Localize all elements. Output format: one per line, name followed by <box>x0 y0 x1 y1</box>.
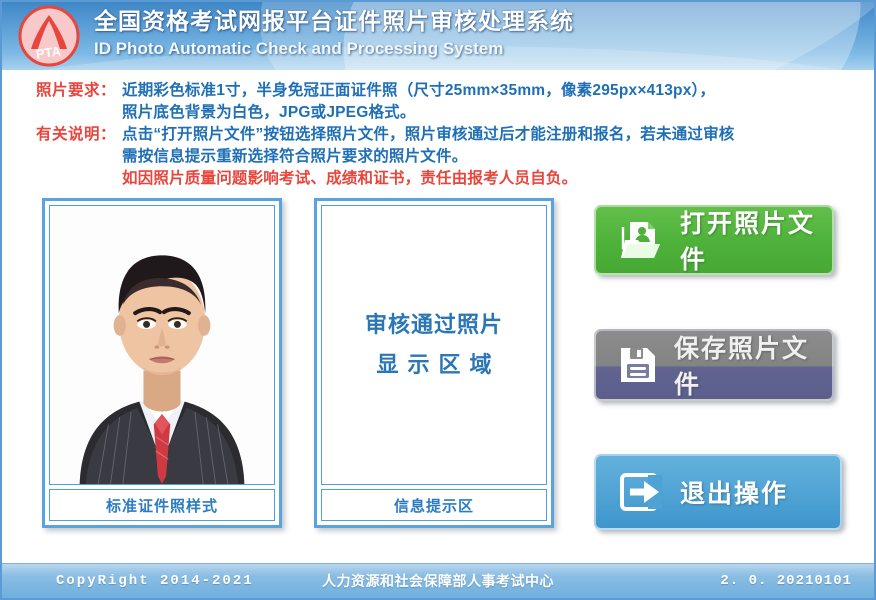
open-photo-file-label: 打开照片文件 <box>680 204 832 276</box>
open-photo-file-button[interactable]: 打开照片文件 <box>594 205 834 275</box>
sample-photo-image <box>49 205 275 485</box>
exit-arrow-icon <box>618 470 664 514</box>
notice-text: 照片底色背景为白色，JPG或JPEG格式。 <box>122 102 416 124</box>
version-text: 2. 0. 20210101 <box>720 573 852 589</box>
app-header: PTA 全国资格考试网报平台证件照片审核处理系统 ID Photo Automa… <box>2 2 874 70</box>
notice-line: 照片底色背景为白色，JPG或JPEG格式。 <box>2 102 874 124</box>
notice-label: 有关说明： <box>36 124 122 146</box>
approved-photo-display-area[interactable]: 审核通过照片 显示区域 <box>321 205 547 485</box>
sample-photo-caption: 标准证件照样式 <box>49 489 275 521</box>
notice-text: 需按信息提示重新选择符合照片要求的照片文件。 <box>122 146 467 168</box>
notice-line: 有关说明： 点击“打开照片文件”按钮选择照片文件，照片审核通过后才能注册和报名，… <box>2 124 874 146</box>
open-folder-photo-icon <box>618 218 664 262</box>
save-photo-file-label: 保存照片文件 <box>674 329 832 401</box>
placeholder-line-2: 显示区域 <box>365 345 503 385</box>
notice-block: 照片要求： 近期彩色标准1寸，半身免冠正面证件照（尺寸25mm×35mm，像素2… <box>2 70 874 194</box>
page-subtitle: ID Photo Automatic Check and Processing … <box>94 36 574 62</box>
notice-text: 近期彩色标准1寸，半身免冠正面证件照（尺寸25mm×35mm，像素295px×4… <box>122 80 715 102</box>
app-footer: CopyRight 2014-2021 人力资源和社会保障部人事考试中心 2. … <box>2 563 874 598</box>
pta-emblem-logo: PTA <box>18 5 80 67</box>
header-titles: 全国资格考试网报平台证件照片审核处理系统 ID Photo Automatic … <box>94 6 574 62</box>
notice-line: 如因照片质量问题影响考试、成绩和证书，责任由报考人员自负。 <box>2 168 874 190</box>
notice-line: 照片要求： 近期彩色标准1寸，半身免冠正面证件照（尺寸25mm×35mm，像素2… <box>2 80 874 102</box>
app-window: PTA 全国资格考试网报平台证件照片审核处理系统 ID Photo Automa… <box>0 0 876 600</box>
notice-text: 如因照片质量问题影响考试、成绩和证书，责任由报考人员自负。 <box>122 168 577 190</box>
message-hint-area: 信息提示区 <box>321 489 547 521</box>
notice-label: 照片要求： <box>36 80 122 102</box>
save-photo-file-button[interactable]: 保存照片文件 <box>594 329 834 401</box>
placeholder-text: 审核通过照片 显示区域 <box>365 305 503 385</box>
approved-photo-display-panel[interactable]: 审核通过照片 显示区域 信息提示区 <box>314 198 554 528</box>
notice-line: 需按信息提示重新选择符合照片要求的照片文件。 <box>2 146 874 168</box>
floppy-save-icon <box>618 343 658 387</box>
notice-text: 点击“打开照片文件”按钮选择照片文件，照片审核通过后才能注册和报名，若未通过审核 <box>122 124 735 146</box>
id-photo-portrait <box>50 206 274 484</box>
placeholder-line-1: 审核通过照片 <box>365 305 503 345</box>
exit-label: 退出操作 <box>680 474 788 510</box>
page-title: 全国资格考试网报平台证件照片审核处理系统 <box>94 6 574 36</box>
standard-id-photo-sample-panel: 标准证件照样式 <box>42 198 282 528</box>
exit-button[interactable]: 退出操作 <box>594 454 842 530</box>
